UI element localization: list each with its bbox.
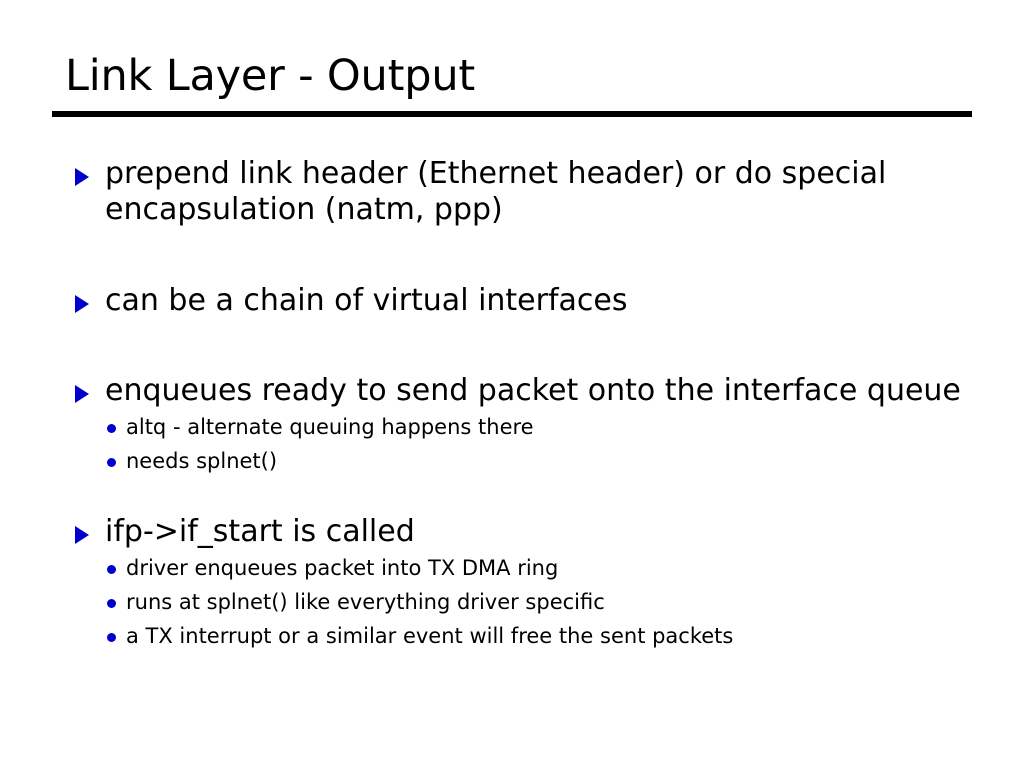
dot-icon: [107, 599, 116, 608]
sub-list-item: runs at splnet() like everything driver …: [64, 585, 984, 619]
spacer: [64, 319, 984, 373]
sub-list-item-label: needs splnet(): [126, 444, 984, 478]
list-item: ifp->if_start is called: [64, 514, 984, 550]
page-title: Link Layer - Output: [52, 50, 972, 102]
triangle-right-icon: [75, 526, 89, 544]
sub-list-item: altq - alternate queuing happens there: [64, 410, 984, 444]
title-divider: [52, 111, 972, 117]
bullet-group: enqueues ready to send packet onto the i…: [64, 373, 984, 478]
list-item-label: prepend link header (Ethernet header) or…: [105, 156, 984, 228]
dot-icon: [107, 424, 116, 433]
list-item-label: enqueues ready to send packet onto the i…: [105, 373, 984, 409]
bullet-group: prepend link header (Ethernet header) or…: [64, 156, 984, 228]
bullet-list: prepend link header (Ethernet header) or…: [64, 156, 984, 653]
list-item-label: ifp->if_start is called: [105, 514, 984, 550]
sub-list-item: a TX interrupt or a similar event will f…: [64, 619, 984, 653]
spacer: [64, 478, 984, 514]
bullet-group: ifp->if_start is called driver enqueues …: [64, 514, 984, 653]
slide: Link Layer - Output prepend link header …: [0, 0, 1024, 768]
dot-icon: [107, 565, 116, 574]
triangle-right-icon: [75, 168, 89, 186]
sub-list-item: driver enqueues packet into TX DMA ring: [64, 551, 984, 585]
list-item: prepend link header (Ethernet header) or…: [64, 156, 984, 228]
list-item: enqueues ready to send packet onto the i…: [64, 373, 984, 409]
sub-list-item-label: a TX interrupt or a similar event will f…: [126, 619, 984, 653]
spacer: [64, 228, 984, 283]
sub-list-item-label: runs at splnet() like everything driver …: [126, 585, 984, 619]
dot-icon: [107, 458, 116, 467]
sub-list-item-label: altq - alternate queuing happens there: [126, 410, 984, 444]
list-item: can be a chain of virtual interfaces: [64, 283, 984, 319]
sub-list: altq - alternate queuing happens there n…: [64, 410, 984, 478]
triangle-right-icon: [75, 295, 89, 313]
bullet-group: can be a chain of virtual interfaces: [64, 283, 984, 319]
list-item-label: can be a chain of virtual interfaces: [105, 283, 984, 319]
dot-icon: [107, 633, 116, 642]
sub-list: driver enqueues packet into TX DMA ring …: [64, 551, 984, 653]
sub-list-item: needs splnet(): [64, 444, 984, 478]
sub-list-item-label: driver enqueues packet into TX DMA ring: [126, 551, 984, 585]
triangle-right-icon: [75, 385, 89, 403]
title-block: Link Layer - Output: [52, 50, 972, 117]
